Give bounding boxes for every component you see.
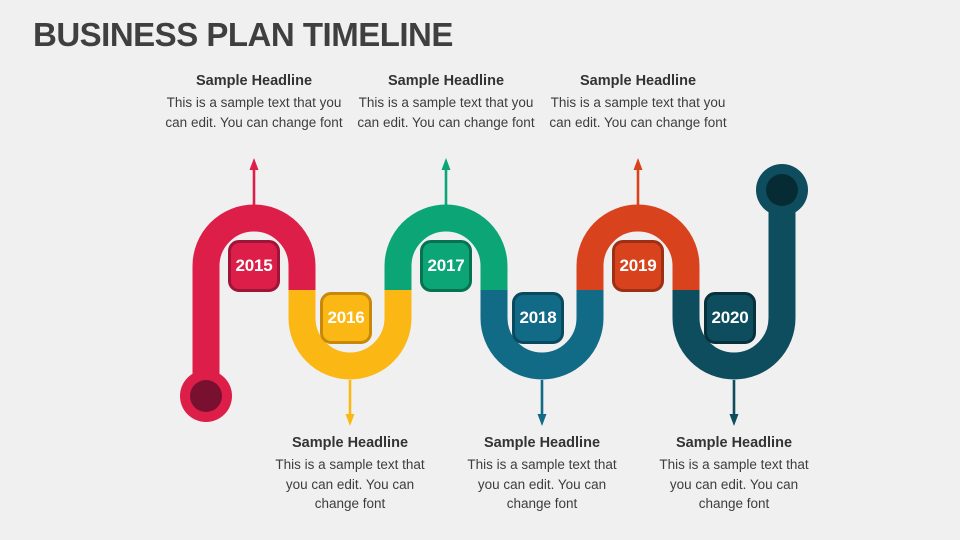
slide-canvas: BUSINESS PLAN TIMELINE [0,0,960,540]
milestone-body: This is a sample text that you can edit.… [352,93,540,131]
year-badge-2015[interactable]: 2015 [228,240,280,292]
year-badge-2018[interactable]: 2018 [512,292,564,344]
milestone-text-2018: Sample Headline This is a sample text th… [458,435,626,513]
milestone-body: This is a sample text that you can edit.… [160,93,348,131]
connector-arrow-2018 [538,380,547,426]
year-badge-2017[interactable]: 2017 [420,240,472,292]
milestone-headline: Sample Headline [352,73,540,90]
connector-arrow-2016 [346,380,355,426]
milestone-body: This is a sample text that you can edit.… [266,455,434,512]
milestone-text-2019: Sample Headline This is a sample text th… [544,73,732,132]
milestone-text-2016: Sample Headline This is a sample text th… [266,435,434,513]
milestone-text-2017: Sample Headline This is a sample text th… [352,73,540,132]
milestone-text-2020: Sample Headline This is a sample text th… [650,435,818,513]
year-badge-2019[interactable]: 2019 [612,240,664,292]
milestone-headline: Sample Headline [458,435,626,452]
milestone-headline: Sample Headline [160,73,348,90]
milestone-headline: Sample Headline [544,73,732,90]
milestone-headline: Sample Headline [650,435,818,452]
milestone-text-2015: Sample Headline This is a sample text th… [160,73,348,132]
year-badge-2016[interactable]: 2016 [320,292,372,344]
milestone-body: This is a sample text that you can edit.… [650,455,818,512]
timeline-start-marker [180,370,232,422]
connector-arrow-2020 [730,380,739,426]
milestone-headline: Sample Headline [266,435,434,452]
year-badge-2020[interactable]: 2020 [704,292,756,344]
milestone-body: This is a sample text that you can edit.… [458,455,626,512]
milestone-body: This is a sample text that you can edit.… [544,93,732,131]
timeline-end-marker [756,164,808,216]
